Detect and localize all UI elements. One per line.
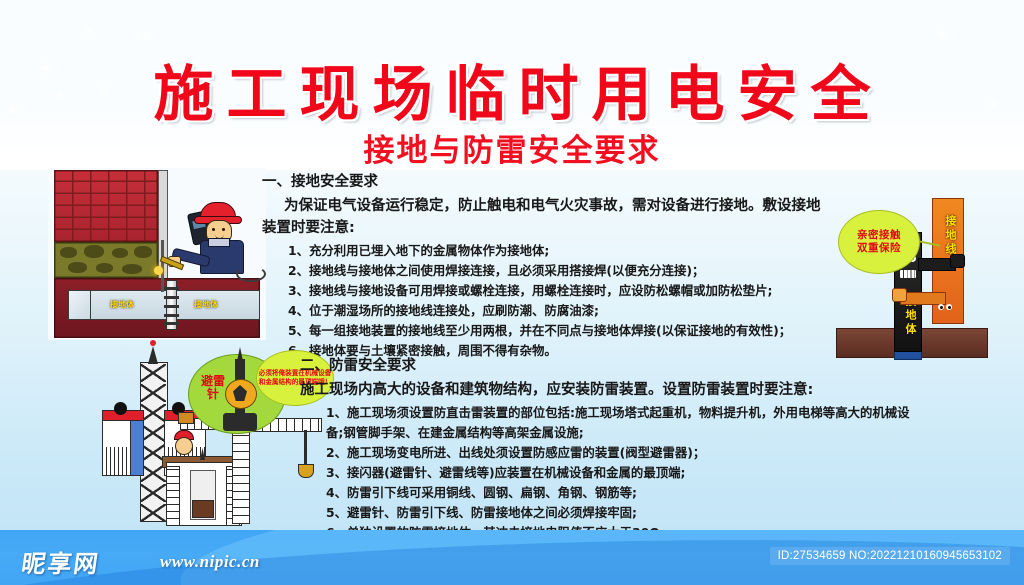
worker-collar [208,238,230,247]
sparkle-icon: ✦ [142,33,150,43]
section2-heading: 二、防雷安全要求 [300,356,920,378]
worker-face-icon [175,437,193,455]
mast-lattice [140,364,166,382]
mast-lattice [140,484,166,502]
tower-crane-counterweight [178,412,194,424]
grounding-label-right: 接地体 [194,299,218,310]
ground-rod-graphic [166,280,177,330]
worker-eye [222,228,225,231]
mascot-mouth [899,269,917,279]
rock-shape [68,262,87,273]
rock-shape [96,263,113,273]
worker-head-icon [114,402,127,415]
mascot-small-eye [946,304,952,310]
footer-watermark-bar: 昵享网 www.nipic.cn ID:27534659 NO:20221210… [0,530,1024,585]
bubble-line-1: 亲密接触 [857,229,901,241]
section-grounding-requirements: 一、接地安全要求 为保证电气设备运行稳定，防止触电和电气火灾事故，需对设备进行接… [262,172,822,361]
section-lightning-requirements: 二、防雷安全要求 施工现场内高大的设备和建筑物结构，应安装防雷装置。设置防雷装置… [300,356,920,543]
speech-bubble-handshake: 亲密接触 双重保险 [838,210,920,274]
list-item: 3、接闪器(避雷针、避雷线等)应装置在机械设备和金属的最顶端; [326,463,920,483]
image-id-badge: ID:27534659 NO:20221210160945653102 [770,547,1010,565]
list-item: 1、充分利用已埋入地下的金属物体作为接地体; [288,241,822,261]
worker-eye [212,228,215,231]
brick-wall-outline [54,170,158,242]
list-item: 5、每一组接地装置的接地线至少用两根，并在不同点与接地体焊接(以保证接地的有效性… [288,321,822,341]
mast-lattice [140,504,166,522]
section1-lead: 为保证电气设备运行稳定，防止触电和电气火灾事故，需对设备进行接地。敷设接地装置时… [262,195,822,239]
list-item: 5、避雷针、防雷引下线、防雷接地体之间必须焊接牢固; [326,503,920,523]
list-item: 2、施工现场变电所进、出线处须设置防感应雷的装置(阀型避雷器)； [326,443,920,463]
ground-wire-graphic [161,240,164,292]
mascot-small-eye [938,304,944,310]
rubble-layer-graphic [54,242,158,278]
mascot-ground-wire-label: 接地线 [942,215,958,257]
illustration-lightning-equipment: 避雷针 必须将俺装置在机械设备和金属结构的最顶端哦！ [104,352,330,528]
grounding-label-left: 接地体 [110,299,134,310]
section2-lead: 施工现场内高大的设备和建筑物结构，应安装防雷装置。设置防雷装置时要注意: [300,379,920,401]
lightning-rod-base [223,413,257,431]
page-subtitle: 接地与防雷安全要求 [0,125,1024,170]
rock-shape [60,247,77,258]
illustration-grounding-welding: 接地体 接地体 [48,168,266,340]
illustration-handshake-mascots: 接地线 接地体 亲密接触 双重保险 [836,196,1016,358]
sparkle-icon: ✦ [84,27,93,38]
mascot-hand-orange [892,288,907,302]
site-logo: 昵享网 [20,544,103,579]
page-title: 施工现场临时用电安全 [0,46,1024,133]
bubble-line-2: 双重保险 [857,242,901,254]
lightning-rod-label: 避雷针 [201,375,225,402]
section2-list: 1、施工现场须设置防直击雷装置的部位包括:施工现场塔式起重机，物料提升机，外用电… [300,403,920,544]
list-item: 2、接地线与接地体之间使用焊接连接，且必须采用搭接焊(以便充分连接)； [288,261,822,281]
list-item: 4、位于潮湿场所的接地线连接处，应刷防潮、防腐油漆; [288,301,822,321]
weld-spark-icon [154,266,163,275]
mast-tip-rod [148,346,158,364]
mast-tip-marker [150,340,156,346]
list-item: 1、施工现场须设置防直击雷装置的部位包括:施工现场塔式起重机，物料提升机，外用电… [326,403,920,443]
rock-shape [84,245,104,258]
mast-lattice [140,384,166,402]
section1-list: 1、充分利用已埋入地下的金属物体作为接地体; 2、接地线与接地体之间使用焊接连接… [262,241,822,362]
poster-canvas: ✦ ✦ ✦ ✦ ✦ ✦ ✦ ✦ 施工现场临时用电安全 接地与防雷安全要求 [0,0,1024,585]
material-hoist-load [192,500,214,518]
site-url: www.nipic.cn [160,552,260,572]
sparkle-icon: ✦ [937,29,947,41]
mascot-hand-dark [950,254,965,268]
rock-shape [134,246,152,258]
hoist-cage-divider-left [130,420,144,476]
rock-shape [112,248,128,258]
list-item: 3、接地线与接地设备可用焊接或螺栓连接，用螺栓连接时，应设防松螺帽或加防松垫片; [288,281,822,301]
list-item: 4、防雷引下线可采用铜线、圆钢、扁钢、角钢、钢筋等; [326,483,920,503]
material-hoist-column [166,466,180,526]
section1-heading: 一、接地安全要求 [262,172,822,194]
rock-shape [122,264,142,274]
